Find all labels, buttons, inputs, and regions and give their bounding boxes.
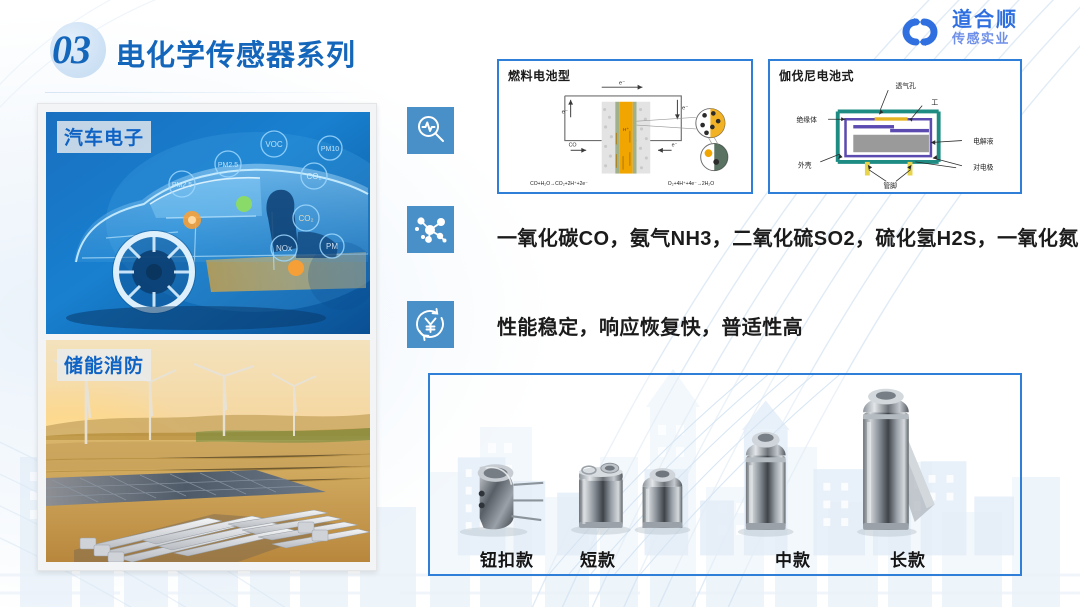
- application-photo-column: VOC PM10 PM2.5 PM2.5 CO₂ CO₂ NOx PM: [37, 103, 377, 571]
- diagram-title-galvanic-cell: 伽伐尼电池式: [779, 67, 854, 84]
- feature-text-performance: 性能稳定，响应恢复快，普适性高: [497, 311, 803, 340]
- svg-text:PM2.5: PM2.5: [172, 182, 192, 189]
- product-label-long: 长款: [890, 546, 926, 571]
- svg-text:CO₂: CO₂: [306, 172, 321, 181]
- page-title: 电化学传感器系列: [116, 32, 356, 74]
- feature-icon-gases: [407, 206, 454, 253]
- diagram-fuel-cell: H⁺ e⁻: [497, 59, 753, 194]
- svg-text:e⁻: e⁻: [672, 142, 678, 148]
- logo-name-sub: 传感实业: [952, 31, 1062, 47]
- svg-text:e⁻: e⁻: [619, 80, 625, 86]
- sensor-products-photo-icon: [430, 375, 1020, 574]
- photo-label-energy-storage: 储能消防: [57, 349, 151, 381]
- svg-text:PM: PM: [326, 242, 338, 251]
- diagram-galvanic-cell: 透气孔 工 绝缘体 电解液 外壳 对电极 管脚 伽伐尼电池式: [768, 59, 1022, 194]
- svg-text:CO: CO: [569, 142, 577, 148]
- magnifier-pulse-icon: [407, 107, 454, 154]
- svg-text:管脚: 管脚: [883, 181, 897, 190]
- header-divider: [45, 92, 375, 93]
- logo-name-main: 道合顺: [952, 10, 1062, 31]
- interlocking-rings-logo-icon: [892, 12, 948, 52]
- svg-text:PM10: PM10: [321, 146, 339, 153]
- svg-text:透气孔: 透气孔: [895, 81, 916, 90]
- svg-text:e⁻: e⁻: [682, 106, 688, 112]
- svg-text:电解液: 电解液: [973, 136, 994, 145]
- molecule-icon: [407, 206, 454, 253]
- photo-automotive: VOC PM10 PM2.5 PM2.5 CO₂ CO₂ NOx PM: [46, 112, 370, 334]
- svg-text:NOx: NOx: [276, 244, 292, 253]
- diagram-title-fuel-cell: 燃料电池型: [508, 67, 571, 84]
- svg-text:VOC: VOC: [265, 140, 283, 149]
- svg-text:对电极: 对电极: [973, 163, 994, 172]
- product-label-medium: 中款: [775, 546, 811, 571]
- product-label-button: 钮扣款: [480, 546, 534, 571]
- svg-text:外壳: 外壳: [798, 161, 812, 170]
- yen-refresh-icon: [407, 301, 454, 348]
- section-number: 03: [52, 26, 90, 73]
- svg-text:CO+H₂O→CO₂+2H⁺+2e⁻: CO+H₂O→CO₂+2H⁺+2e⁻: [530, 181, 588, 187]
- company-logo: 道合顺 传感实业: [892, 10, 1062, 56]
- slide-canvas: 03 电化学传感器系列 道合顺 传感实业: [0, 0, 1080, 607]
- feature-text-gases: 一氧化碳CO，氨气NH3，二氧化硫SO2，硫化氢H2S，一氧化氮NO等: [497, 222, 1080, 251]
- svg-text:e⁻: e⁻: [562, 109, 568, 115]
- logo-text: 道合顺 传感实业: [952, 10, 1062, 47]
- svg-text:CO₂: CO₂: [298, 214, 313, 223]
- svg-text:绝缘体: 绝缘体: [797, 115, 818, 124]
- photo-energy-storage: 储能消防: [46, 340, 370, 562]
- product-label-short: 短款: [580, 546, 616, 571]
- svg-text:H⁺: H⁺: [623, 127, 629, 133]
- svg-text:O₂+4H⁺+4e⁻→2H₂O: O₂+4H⁺+4e⁻→2H₂O: [668, 181, 714, 187]
- feature-icon-value: [407, 301, 454, 348]
- photo-label-automotive: 汽车电子: [57, 121, 151, 153]
- svg-text:PM2.5: PM2.5: [218, 162, 238, 169]
- title-underscore-accent: [118, 62, 131, 65]
- feature-icon-detection: [407, 107, 454, 154]
- svg-text:工: 工: [931, 100, 938, 107]
